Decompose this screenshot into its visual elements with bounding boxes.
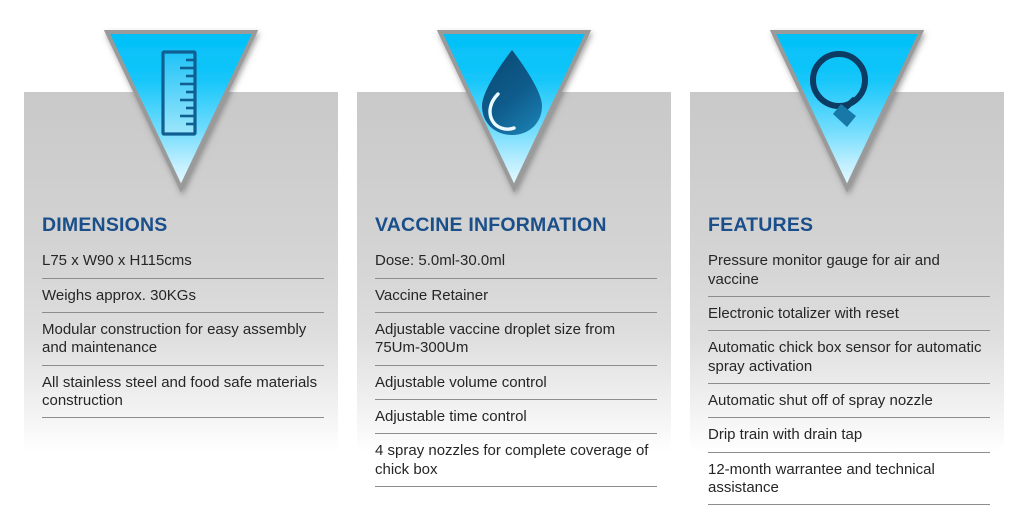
list-item: All stainless steel and food safe materi… [42, 374, 324, 419]
list-item: 4 spray nozzles for complete coverage of… [375, 442, 657, 487]
ruler-icon [105, 30, 257, 192]
feature-columns: DIMENSIONS L75 x W90 x H115cms Weighs ap… [0, 0, 1024, 524]
badge-vaccine-information [438, 30, 590, 190]
column-heading: VACCINE INFORMATION [375, 215, 657, 236]
list-item: Adjustable time control [375, 408, 657, 434]
feature-column-features: FEATURES Pressure monitor gauge for air … [690, 0, 1004, 524]
list-item: Automatic chick box sensor for automatic… [708, 339, 990, 384]
list-item: Electronic totalizer with reset [708, 305, 990, 331]
list-item: Dose: 5.0ml-30.0ml [375, 252, 657, 278]
column-heading: DIMENSIONS [42, 215, 324, 236]
list-item: Drip train with drain tap [708, 426, 990, 452]
column-heading: FEATURES [708, 215, 990, 236]
content-dimensions: DIMENSIONS L75 x W90 x H115cms Weighs ap… [42, 215, 324, 426]
spec-list: L75 x W90 x H115cms Weighs approx. 30KGs… [42, 252, 324, 418]
ruler-glyph [163, 52, 195, 134]
list-item: L75 x W90 x H115cms [42, 252, 324, 278]
list-item: Adjustable vaccine droplet size from 75U… [375, 321, 657, 366]
list-item: Pressure monitor gauge for air and vacci… [708, 252, 990, 297]
content-vaccine-information: VACCINE INFORMATION Dose: 5.0ml-30.0ml V… [375, 215, 657, 495]
badge-features [771, 30, 923, 190]
water-droplet-icon [438, 30, 590, 192]
list-item: Modular construction for easy assembly a… [42, 321, 324, 366]
content-features: FEATURES Pressure monitor gauge for air … [708, 215, 990, 513]
spec-list: Pressure monitor gauge for air and vacci… [708, 252, 990, 505]
list-item: 12-month warrantee and technical assista… [708, 461, 990, 506]
spec-list: Dose: 5.0ml-30.0ml Vaccine Retainer Adju… [375, 252, 657, 486]
badge-dimensions [105, 30, 257, 190]
list-item: Vaccine Retainer [375, 287, 657, 313]
feature-column-vaccine-information: VACCINE INFORMATION Dose: 5.0ml-30.0ml V… [357, 0, 671, 524]
list-item: Adjustable volume control [375, 374, 657, 400]
magnifier-icon [771, 30, 923, 192]
list-item: Automatic shut off of spray nozzle [708, 392, 990, 418]
list-item: Weighs approx. 30KGs [42, 287, 324, 313]
feature-column-dimensions: DIMENSIONS L75 x W90 x H115cms Weighs ap… [24, 0, 338, 524]
